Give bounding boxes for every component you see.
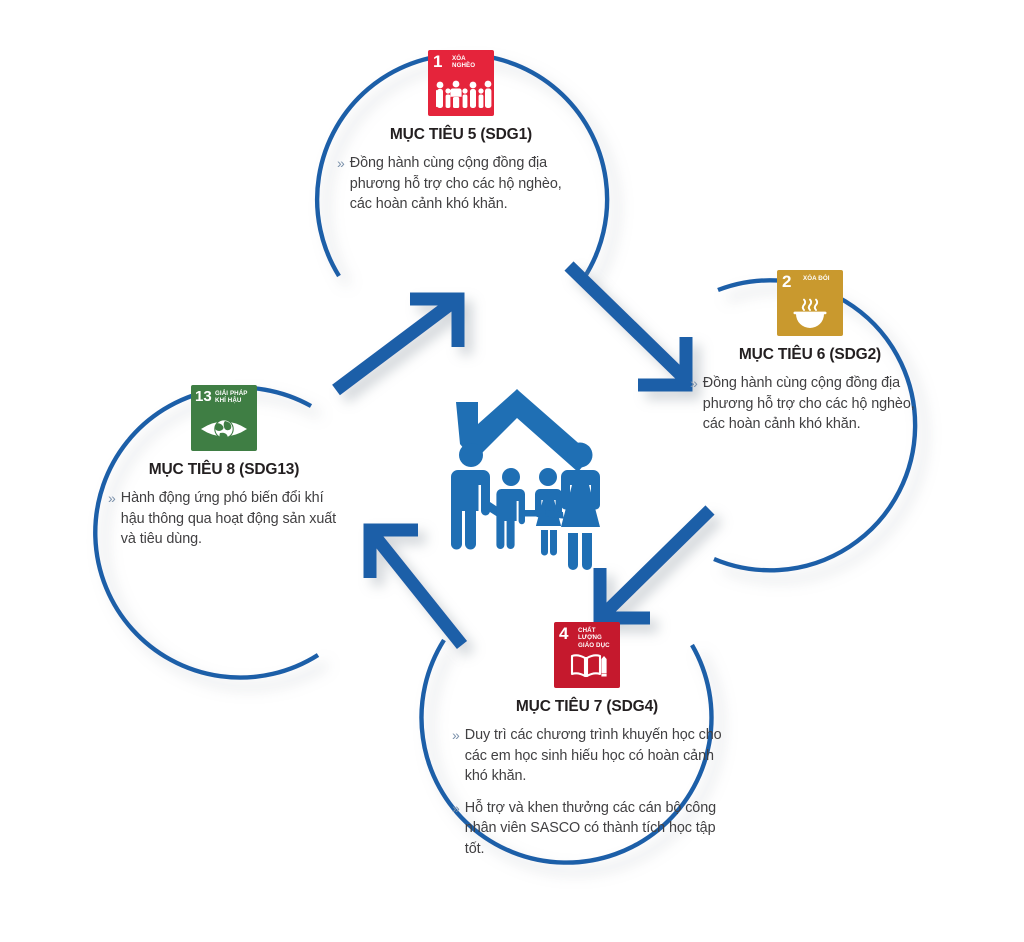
node-sdg13: 13 GIẢI PHÁP KHÍ HẬU MỤC TIÊU 8 (SDG13) [108,385,340,550]
sdg-badge-line-1: GIẢI PHÁP KHÍ HẬU [215,390,248,405]
bullet-item: » Đồng hành cùng cộng đồng địa phương hỗ… [337,153,585,215]
node-title: MỤC TIÊU 6 (SDG2) [690,346,930,364]
node-sdg2: 2 XÓA ĐÓI MỤC TIÊU 6 (SDG2) » Đồng hành … [690,270,930,435]
infographic-canvas: 1 XÓA NGHÈO MỤC TIÊU 5 (SDG1) » Đồn [0,0,1024,942]
sdg-badge-number: 4 [559,625,568,642]
bullet-glyph: » [337,153,345,174]
bullet-text: Đồng hành cùng cộng đồng địa phương hỗ t… [350,153,585,215]
node-title: MỤC TIÊU 5 (SDG1) [337,126,585,144]
arrow-right-to-bottom [600,510,710,618]
sdg-badge-number: 13 [195,388,212,405]
bullet-text: Hành động ứng phó biến đổi khí hậu thông… [121,488,340,550]
sdg4-quality-education-icon: 4 CHẤT LƯỢNG GIÁO DỤC [554,622,620,688]
node-sdg4: 4 CHẤT LƯỢNG GIÁO DỤC MỤC TIÊU 7 (SDG4) … [452,622,722,859]
house-family-icon [451,389,600,570]
sdg-badge-line-1: XÓA NGHÈO [452,55,475,70]
arrow-top-to-right [569,266,686,385]
bullet-item: » Đồng hành cùng cộng đồng địa phương hỗ… [690,373,930,435]
sdg1-no-poverty-icon: 1 XÓA NGHÈO [428,50,494,116]
node-title: MỤC TIÊU 8 (SDG13) [108,461,340,479]
bullet-glyph: » [108,488,116,509]
sdg-badge-line-1: XÓA ĐÓI [803,275,830,282]
sdg13-climate-action-icon: 13 GIẢI PHÁP KHÍ HẬU [191,385,257,451]
bullet-glyph: » [452,725,460,746]
bullet-item: » Duy trì các chương trình khuyến học ch… [452,725,722,787]
bullet-glyph: » [452,798,460,819]
bullet-glyph: » [690,373,698,394]
sdg-badge-number: 2 [782,273,791,290]
bullet-item: » Hành động ứng phó biến đổi khí hậu thô… [108,488,340,550]
bullet-text: Đồng hành cùng cộng đồng địa phương hỗ t… [703,373,930,435]
family-group-glyph [428,77,494,111]
sdg-badge-number: 1 [433,53,442,70]
node-sdg1: 1 XÓA NGHÈO MỤC TIÊU 5 (SDG1) » Đồn [337,50,585,215]
book-pencil-glyph [554,649,620,683]
sdg-badge-line-1: CHẤT LƯỢNG GIÁO DỤC [578,627,620,649]
bullet-item: » Hỗ trợ và khen thưởng các cán bộ công … [452,798,722,860]
arrow-bottom-to-left [370,530,462,645]
bowl-steam-glyph [777,297,843,331]
eye-earth-glyph [191,412,257,446]
bullet-text: Hỗ trợ và khen thưởng các cán bộ công nh… [465,798,722,860]
bullet-text: Duy trì các chương trình khuyến học cho … [465,725,722,787]
sdg2-zero-hunger-icon: 2 XÓA ĐÓI [777,270,843,336]
arrow-left-to-top [336,299,458,390]
node-title: MỤC TIÊU 7 (SDG4) [452,698,722,716]
